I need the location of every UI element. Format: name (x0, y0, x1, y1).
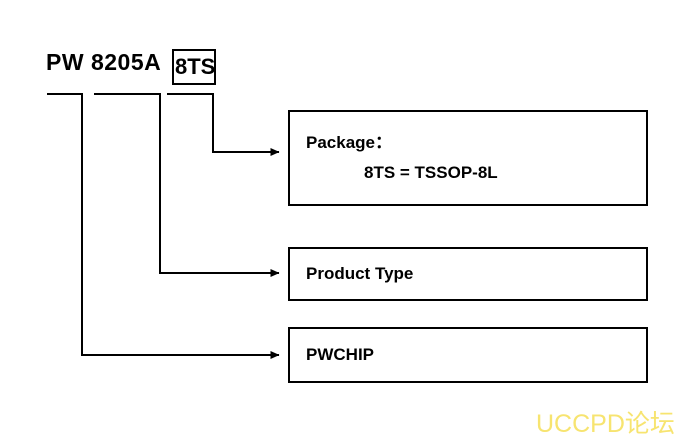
package-title-text: Package： (306, 128, 392, 153)
package-value-text: 8TS = TSSOP-8L (364, 163, 498, 183)
leader-line-pwchip (47, 94, 279, 355)
leader-line-package (167, 94, 279, 152)
part-number-decoder-diagram: PW 8205A 8TS Package： 8TS = TSSOP-8L Pro… (0, 0, 694, 442)
leader-line-product-type (94, 94, 279, 273)
pwchip-text: PWCHIP (306, 345, 374, 365)
package-description-box (288, 110, 648, 206)
product-type-text: Product Type (306, 264, 413, 284)
watermark-text: UCCPD论坛 (536, 404, 675, 440)
